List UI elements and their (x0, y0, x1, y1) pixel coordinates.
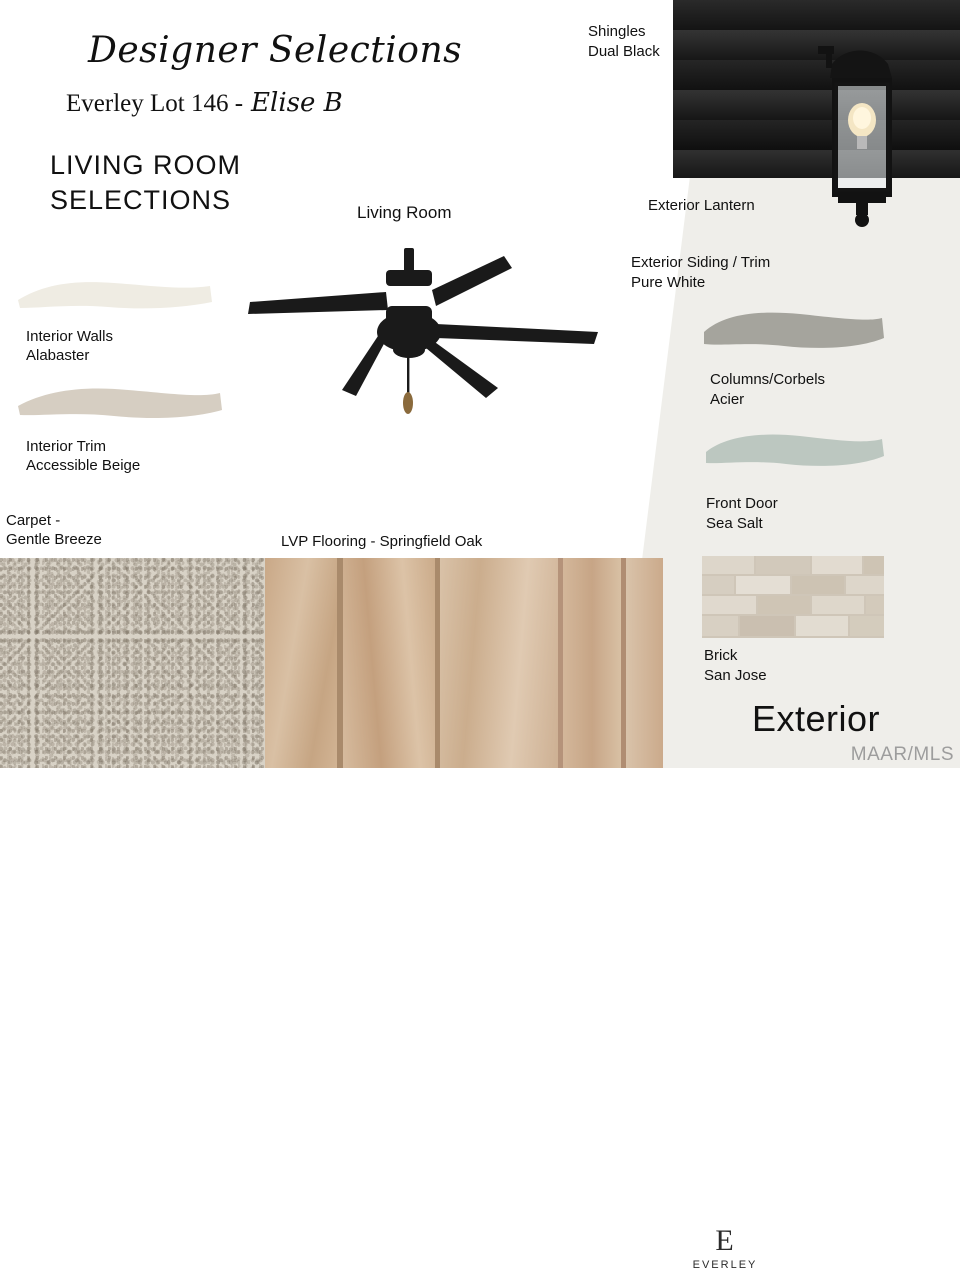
everley-logo: E EVERLEY (675, 1226, 775, 1271)
label-shingles: Shingles Dual Black (588, 22, 660, 61)
living-room-section-heading: LIVING ROOM SELECTIONS (50, 148, 241, 217)
page-title: Designer Selections (88, 30, 462, 71)
label-exterior-siding: Exterior Siding / Trim Pure White (631, 253, 770, 292)
shingles-label: Shingles (588, 23, 646, 40)
subtitle-client: Elise B (251, 88, 343, 118)
siding-value: Pure White (631, 274, 705, 291)
label-front-door: Front Door Sea Salt (706, 494, 778, 533)
columns-name: Columns/Corbels (710, 371, 825, 388)
swatch-front-door (700, 428, 888, 472)
swatch-name-interior-trim: Interior Trim (26, 438, 106, 455)
columns-value: Acier (710, 391, 744, 408)
swatch-interior-walls (14, 274, 214, 314)
subtitle-lot: Everley Lot 146 - (66, 90, 243, 118)
label-exterior-lantern: Exterior Lantern (648, 196, 755, 216)
swatch-value-interior-trim: Accessible Beige (26, 457, 140, 474)
label-interior-trim: Interior Trim Accessible Beige (26, 438, 140, 476)
everley-logo-name: EVERLEY (675, 1259, 775, 1271)
brick-sample (702, 556, 884, 638)
ceiling-fan-image (236, 240, 616, 440)
label-carpet: Carpet - Gentle Breeze (6, 512, 102, 550)
swatch-interior-trim (14, 382, 224, 424)
shingles-value: Dual Black (588, 43, 660, 60)
swatch-columns-corbels (696, 306, 888, 354)
exterior-lantern-image (812, 38, 908, 243)
brick-name: Brick (704, 647, 737, 664)
lvp-label: LVP Flooring - Springfield Oak (281, 533, 482, 550)
label-columns-corbels: Columns/Corbels Acier (710, 370, 825, 409)
exterior-footer-word: Exterior (752, 698, 880, 740)
subtitle: Everley Lot 146 - Elise B (66, 88, 343, 118)
carpet-sample (0, 558, 265, 768)
watermark: MAAR/MLS (851, 744, 954, 766)
carpet-label: Carpet - (6, 512, 60, 529)
ceiling-fan-label: Living Room (357, 203, 452, 223)
swatch-value-interior-walls: Alabaster (26, 347, 89, 364)
carpet-value: Gentle Breeze (6, 531, 102, 548)
front-door-name: Front Door (706, 495, 778, 512)
design-board: Designer Selections Everley Lot 146 - El… (0, 0, 960, 768)
label-brick: Brick San Jose (704, 646, 767, 685)
front-door-value: Sea Salt (706, 515, 763, 532)
lvp-sample: E EVERLEY (265, 558, 663, 768)
label-interior-walls: Interior Walls Alabaster (26, 328, 113, 366)
swatch-name-interior-walls: Interior Walls (26, 328, 113, 345)
brick-value: San Jose (704, 667, 767, 684)
everley-logo-mark: E (675, 1226, 775, 1256)
siding-label: Exterior Siding / Trim (631, 254, 770, 271)
label-lvp: LVP Flooring - Springfield Oak (281, 533, 482, 552)
